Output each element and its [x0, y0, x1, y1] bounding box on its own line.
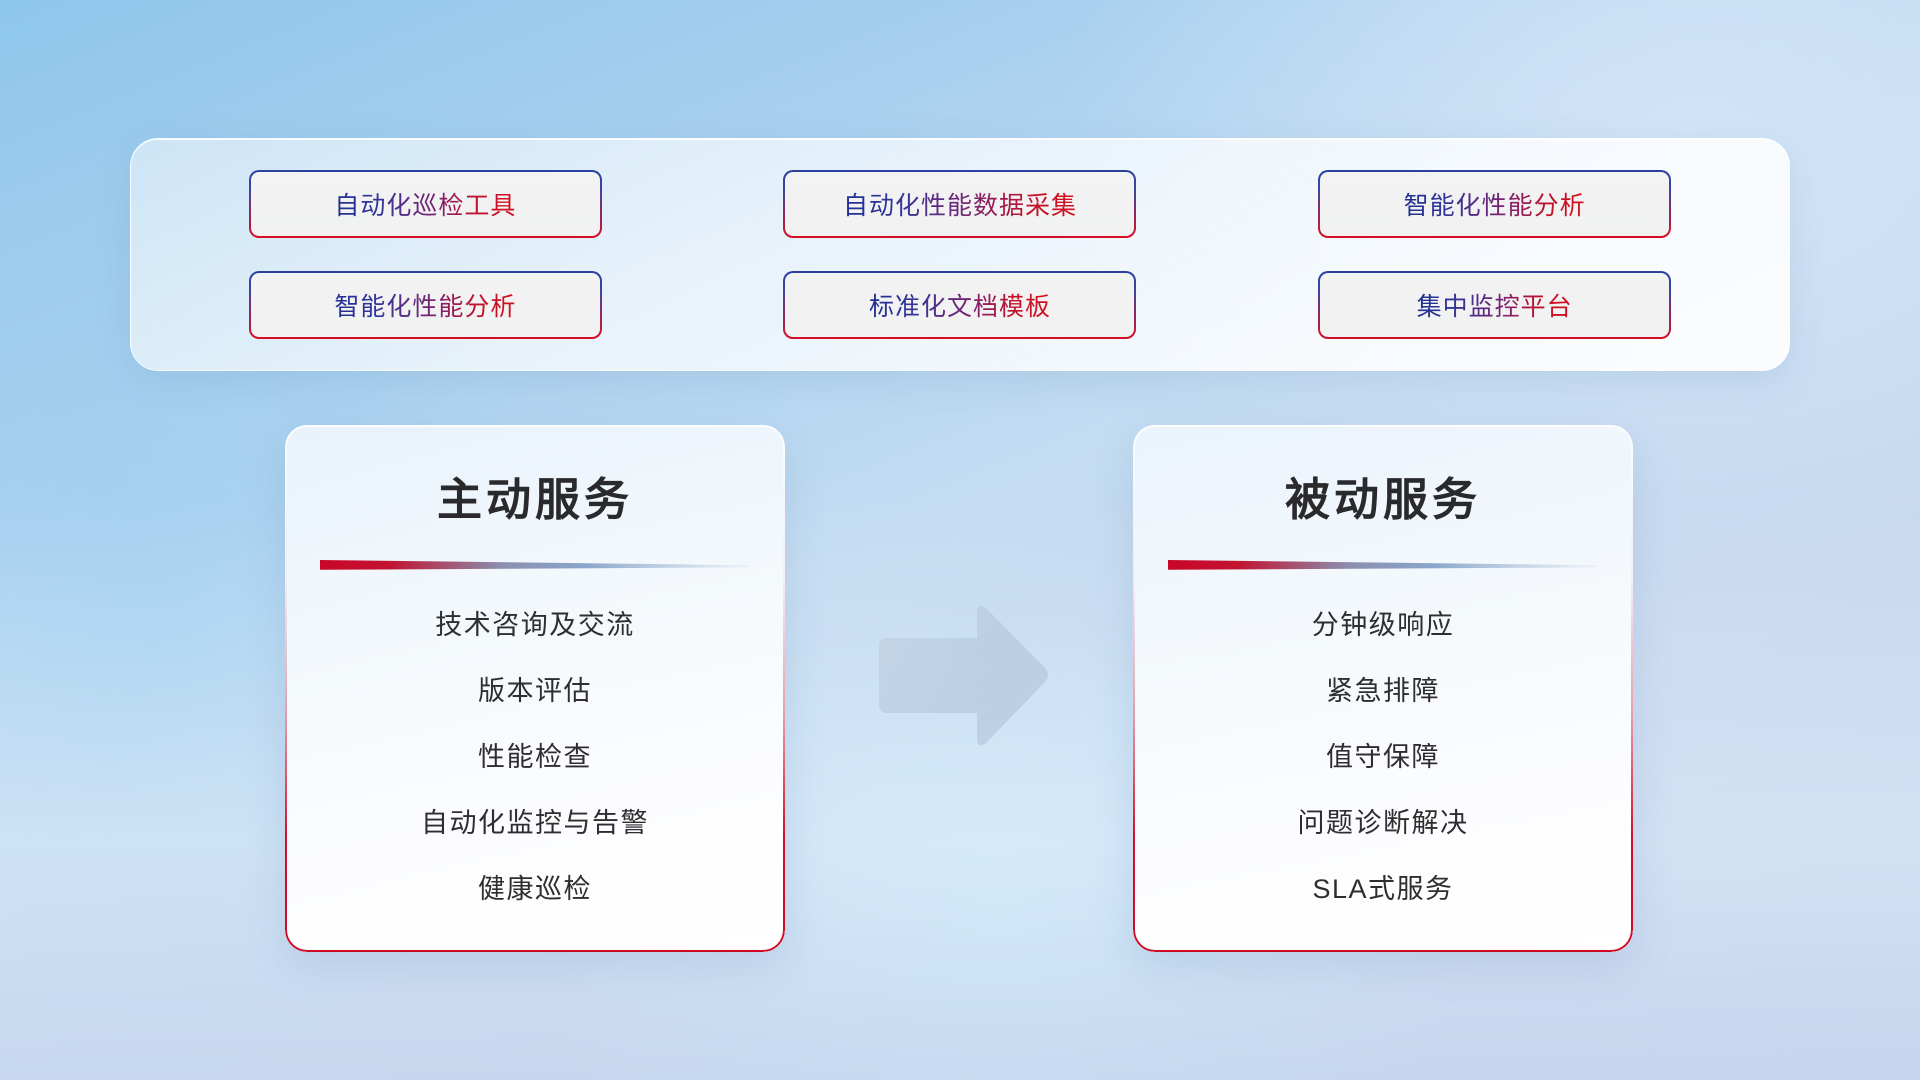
capability-chip[interactable]: 智能化性能分析	[1318, 170, 1671, 238]
capability-chip-label: 集中监控平台	[1417, 287, 1573, 323]
diagram-canvas: 自动化巡检工具 自动化性能数据采集 智能化性能分析 智能化性能分析 标准化文档模…	[0, 0, 1920, 1080]
capability-chip[interactable]: 智能化性能分析	[249, 271, 602, 339]
capability-chip[interactable]: 标准化文档模板	[783, 271, 1136, 339]
capability-chip[interactable]: 自动化巡检工具	[249, 170, 602, 238]
right-arrow-icon	[873, 600, 1053, 752]
card-divider	[320, 558, 750, 572]
service-list-passive: 分钟级响应 紧急排障 值守保障 问题诊断解决 SLA式服务	[1133, 598, 1633, 917]
service-list-item: 自动化监控与告警	[285, 796, 785, 851]
service-list-item: 技术咨询及交流	[285, 598, 785, 653]
service-list-active: 技术咨询及交流 版本评估 性能检查 自动化监控与告警 健康巡检	[285, 598, 785, 917]
service-card-active: 主动服务 技术咨询及交流 版本评估 性能检查	[285, 425, 785, 952]
capability-chip-label: 自动化性能数据采集	[843, 186, 1077, 222]
service-list-item: 健康巡检	[285, 862, 785, 917]
service-list-item: SLA式服务	[1133, 862, 1633, 917]
capability-chip-label: 智能化性能分析	[1404, 186, 1586, 222]
capability-chip[interactable]: 集中监控平台	[1318, 271, 1671, 339]
service-card-passive: 被动服务 分钟级响应 紧急排障 值守保障	[1133, 425, 1633, 952]
capability-panel: 自动化巡检工具 自动化性能数据采集 智能化性能分析 智能化性能分析 标准化文档模…	[130, 138, 1790, 371]
capability-chip-label: 自动化巡检工具	[334, 186, 516, 222]
card-divider	[1168, 558, 1598, 572]
capability-chip[interactable]: 自动化性能数据采集	[783, 170, 1136, 238]
service-list-item: 版本评估	[285, 664, 785, 719]
capability-chip-label: 智能化性能分析	[334, 287, 516, 323]
capability-chip-label: 标准化文档模板	[869, 287, 1051, 323]
service-list-item: 分钟级响应	[1133, 598, 1633, 653]
card-title: 被动服务	[1133, 463, 1633, 528]
card-title: 主动服务	[285, 463, 785, 528]
service-list-item: 问题诊断解决	[1133, 796, 1633, 851]
service-list-item: 紧急排障	[1133, 664, 1633, 719]
service-list-item: 性能检查	[285, 730, 785, 785]
service-list-item: 值守保障	[1133, 730, 1633, 785]
